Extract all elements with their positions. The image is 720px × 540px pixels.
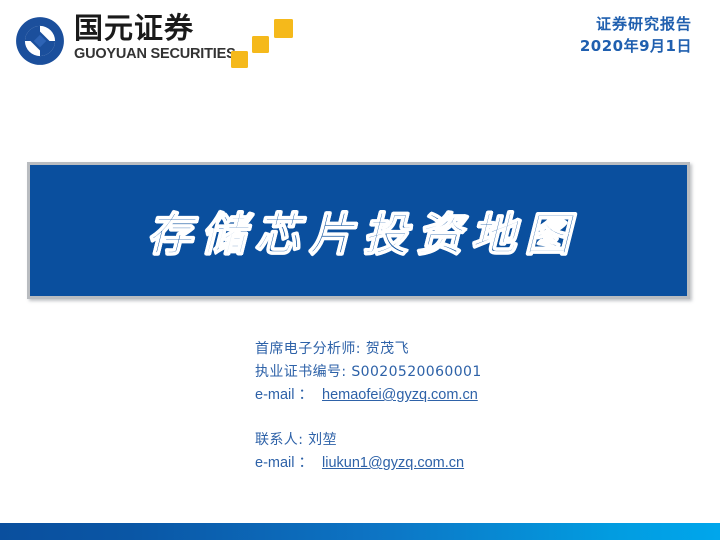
report-date-label: 2020年9月1日 — [580, 36, 692, 58]
yellow-square-mid-icon — [252, 36, 269, 53]
page-title: 存储芯片投资地图 — [138, 198, 579, 263]
analyst-email-link[interactable]: hemaofei@gyzq.com.cn — [322, 384, 478, 407]
brand-lockup: 国元证券 GUOYUAN SECURITIES — [14, 14, 236, 67]
analyst-role-line: 首席电子分析师: 贺茂飞 — [255, 338, 675, 361]
page-header: 国元证券 GUOYUAN SECURITIES 证券研究报告 2020年9月1日 — [0, 0, 720, 90]
contact-spacer — [255, 407, 675, 429]
analyst-license-line: 执业证书编号: S0020520060001 — [255, 361, 675, 384]
brand-name-en: GUOYUAN SECURITIES — [74, 47, 236, 63]
report-kind-label: 证券研究报告 — [580, 14, 692, 36]
assistant-email-link[interactable]: liukun1@gyzq.com.cn — [322, 452, 464, 475]
assistant-email-label: e-mail ： — [255, 452, 313, 475]
brand-text: 国元证券 GUOYUAN SECURITIES — [74, 14, 236, 63]
guoyuan-circular-emblem-icon — [14, 15, 66, 67]
yellow-square-small-icon — [231, 51, 248, 68]
brand-name-cn: 国元证券 — [74, 14, 236, 44]
title-banner: 存储芯片投资地图 — [27, 162, 690, 299]
yellow-square-large-icon — [274, 19, 293, 38]
contact-block: 首席电子分析师: 贺茂飞 执业证书编号: S0020520060001 e-ma… — [255, 338, 675, 475]
assistant-email-row: e-mail ： liukun1@gyzq.com.cn — [255, 452, 675, 475]
analyst-email-label: e-mail ： — [255, 384, 313, 407]
assistant-role-line: 联系人: 刘堃 — [255, 429, 675, 452]
analyst-email-row: e-mail ： hemaofei@gyzq.com.cn — [255, 384, 675, 407]
footer-gradient-bar — [0, 523, 720, 540]
report-meta: 证券研究报告 2020年9月1日 — [580, 14, 692, 58]
